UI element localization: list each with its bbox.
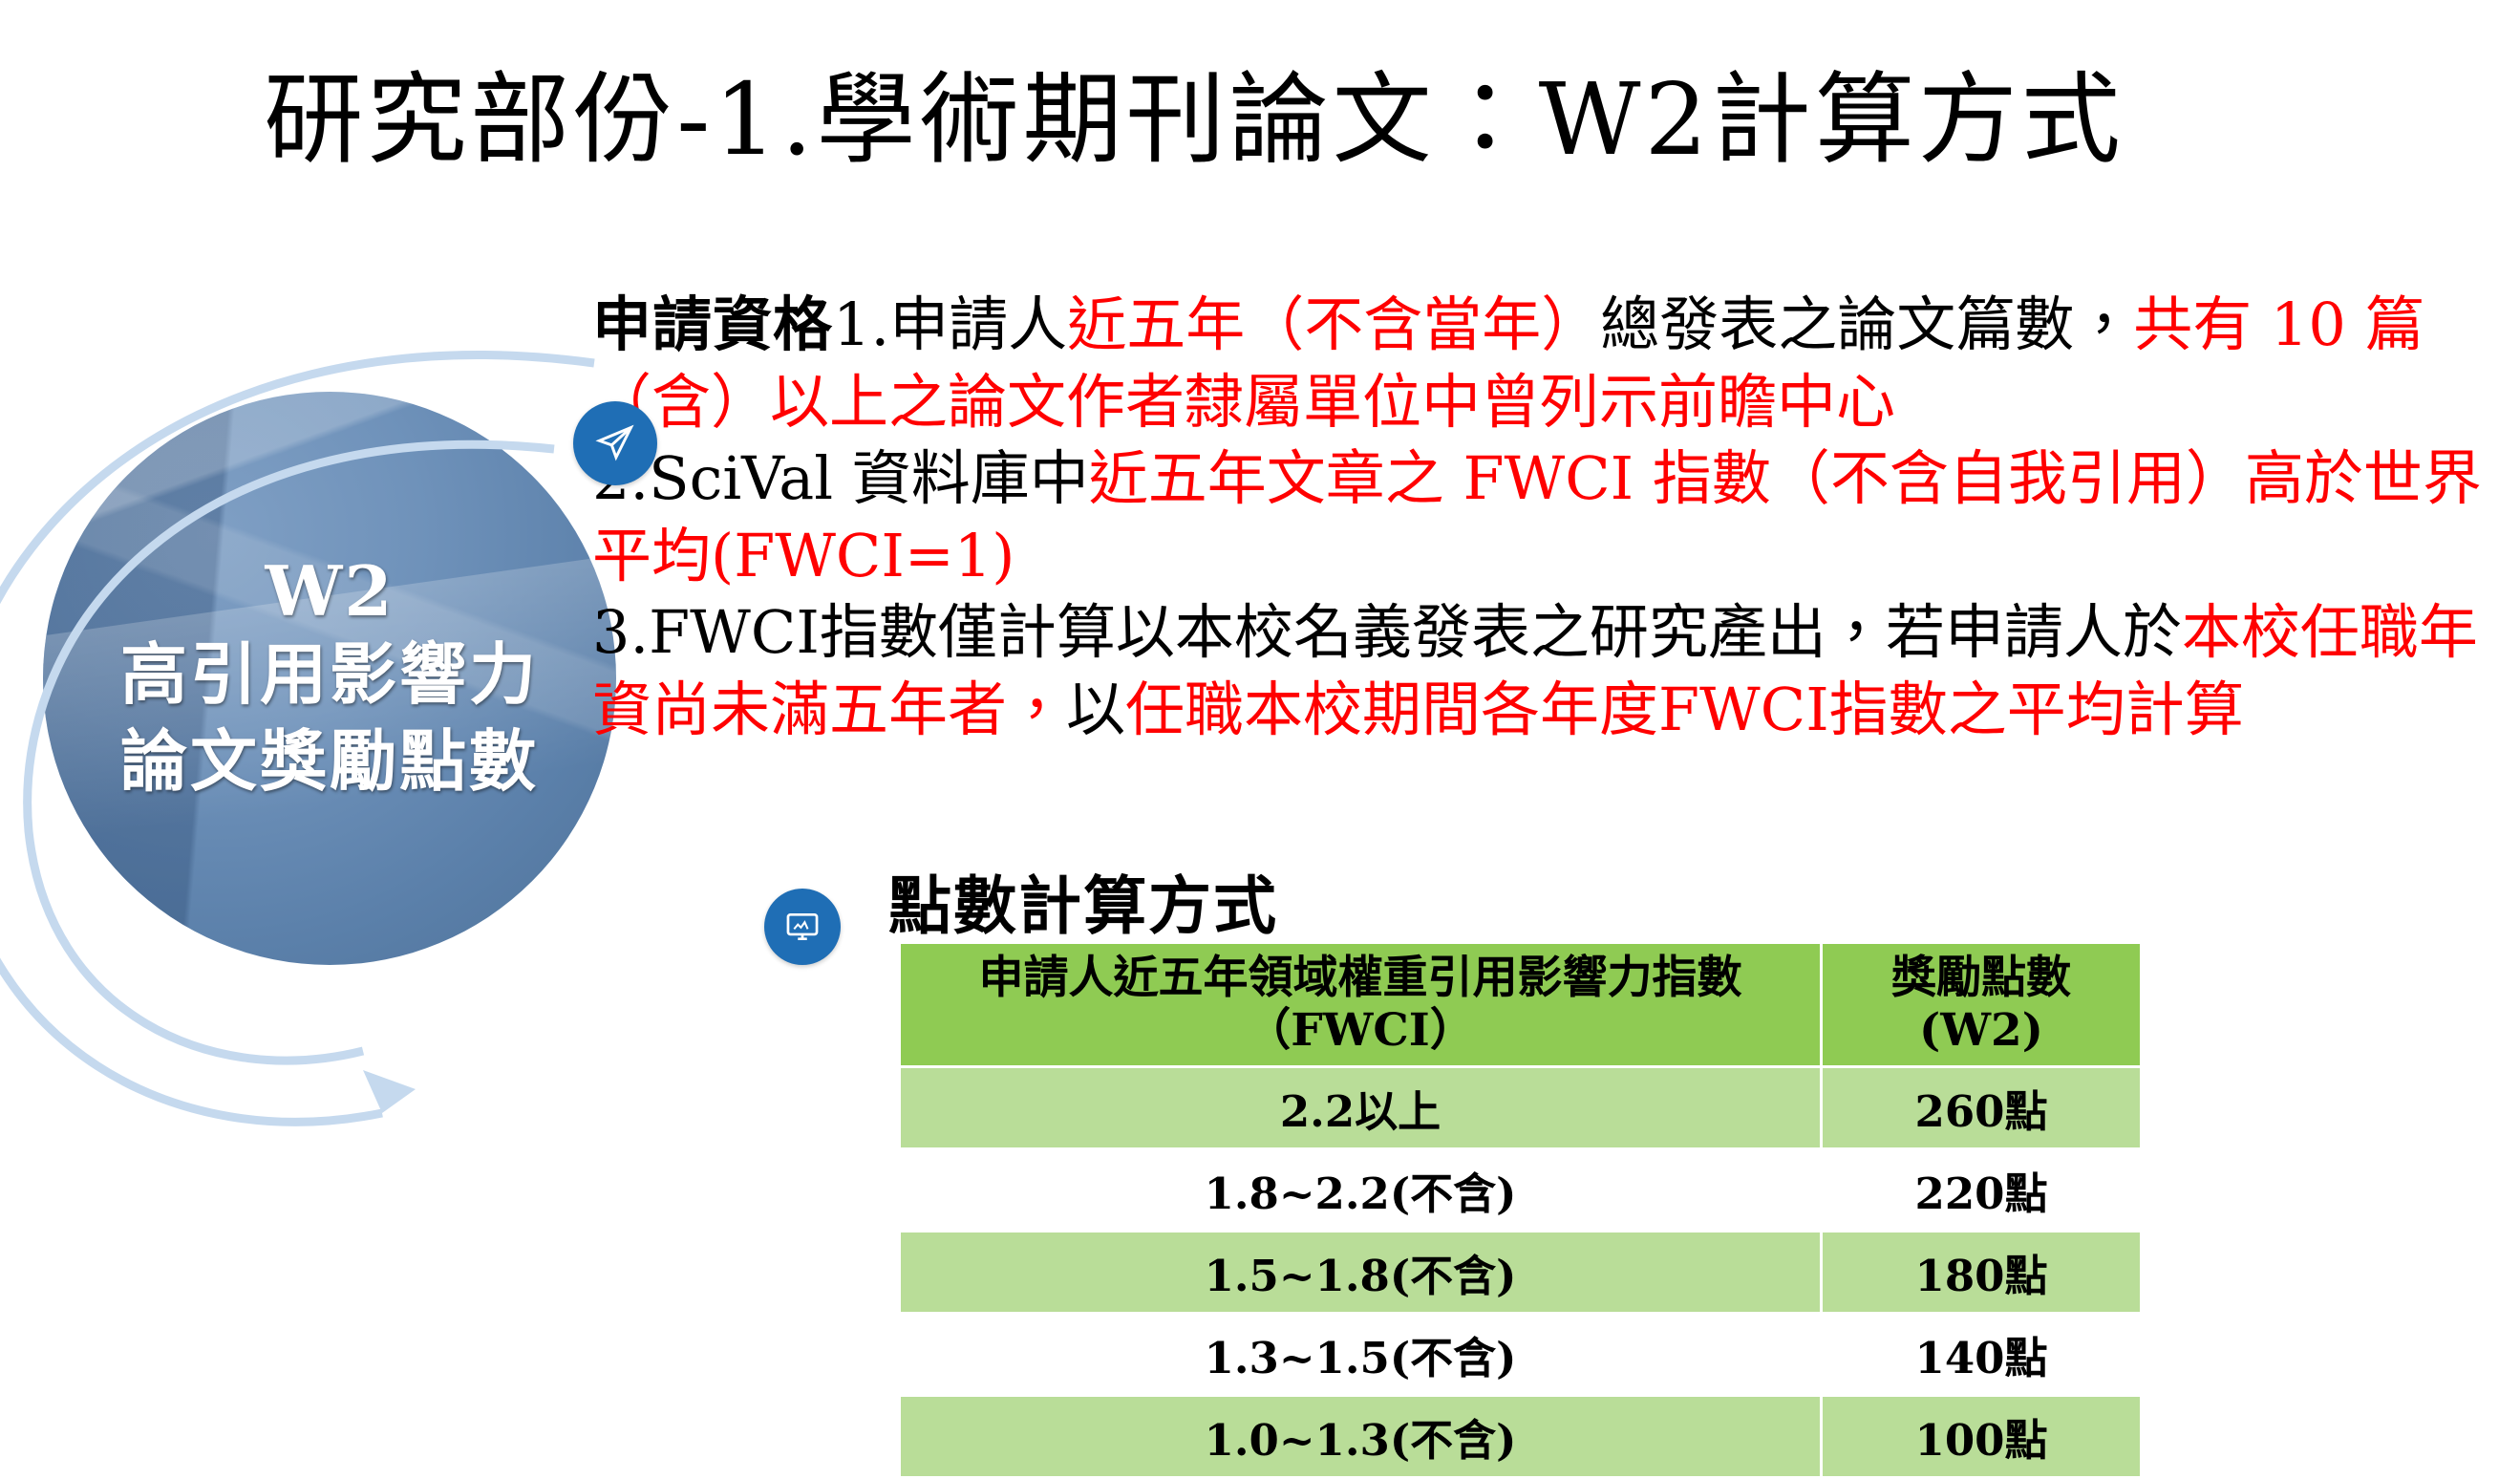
row-range: 2.2以上 — [900, 1066, 1822, 1148]
page-title: 研究部份-1.學術期刊論文：W2計算方式 — [0, 38, 2388, 182]
row-points: 140點 — [1822, 1313, 2142, 1395]
row-points: 260點 — [1822, 1066, 2142, 1148]
table-header-row: 申請人近五年領域權重引用影響力指數 （FWCI） 獎勵點數 (W2) — [900, 943, 2142, 1067]
table-row: 1.3~1.5(不含) 140點 — [900, 1313, 2142, 1395]
row-range: 1.5~1.8(不含) — [900, 1231, 1822, 1313]
qualification-block: 申請資格1.申請人近五年（不含當年）總發表之論文篇數，共有 10 篇（含）以上之… — [592, 287, 2493, 749]
points-table: 申請人近五年領域權重引用影響力指數 （FWCI） 獎勵點數 (W2) 2.2以上… — [898, 941, 2143, 1479]
row-points: 180點 — [1822, 1231, 2142, 1313]
table-header-points-line1: 獎勵點數 — [1826, 952, 2136, 1004]
table-row: 1.8~2.2(不含) 220點 — [900, 1148, 2142, 1231]
circle-line-1: W2 — [266, 552, 395, 632]
item1-seg3: 總發表之論文篇數， — [1600, 289, 2133, 359]
table-header-fwci-line1: 申請人近五年領域權重引用影響力指數 — [905, 952, 1816, 1004]
w2-circle-graphic: W2 高引用影響力 論文獎勵點數 — [0, 373, 602, 984]
paper-plane-badge — [573, 401, 657, 485]
circle-caption: W2 高引用影響力 論文獎勵點數 — [43, 392, 616, 965]
qualification-item-2: 2.SciVal 資料庫中近五年文章之 FWCI 指數（不含自我引用）高於世界平… — [592, 440, 2493, 594]
circle-line-2: 高引用影響力 — [120, 631, 539, 718]
table-row: 1.5~1.8(不含) 180點 — [900, 1231, 2142, 1313]
item1-seg2: 近五年（不含當年） — [1067, 289, 1600, 359]
item1-number: 1. — [833, 289, 889, 359]
qualification-item-3: 3.FWCI指數僅計算以本校名義發表之研究產出，若申請人於本校任職年資尚未滿五年… — [592, 594, 2493, 748]
row-points: 100點 — [1822, 1395, 2142, 1477]
item3-seg4: 任職本校期間各年度FWCI指數之平均計算 — [1125, 675, 2244, 744]
points-calculation-heading: 點數計算方式 — [888, 855, 1278, 947]
item3-seg3: 以 — [1066, 675, 1125, 744]
row-range: 1.3~1.5(不含) — [900, 1313, 1822, 1395]
row-range: 1.8~2.2(不含) — [900, 1148, 1822, 1231]
row-points: 220點 — [1822, 1148, 2142, 1231]
row-range: 1.0~1.3(不含) — [900, 1395, 1822, 1477]
monitor-icon — [784, 909, 821, 945]
table-row: 1.0~1.3(不含) 100點 — [900, 1395, 2142, 1477]
table-header-fwci: 申請人近五年領域權重引用影響力指數 （FWCI） — [900, 943, 1822, 1067]
item3-seg1: FWCI指數僅計算以本校名義發表之研究產出，若申請人於 — [649, 597, 2182, 667]
circle-line-3: 論文獎勵點數 — [120, 718, 539, 804]
table-header-fwci-line2: （FWCI） — [905, 1004, 1816, 1057]
table-body: 2.2以上 260點 1.8~2.2(不含) 220點 1.5~1.8(不含) … — [900, 1066, 2142, 1477]
paper-plane-icon — [594, 422, 636, 464]
table-row: 2.2以上 260點 — [900, 1066, 2142, 1148]
monitor-badge — [764, 889, 841, 965]
table-header-points-line2: (W2) — [1826, 1004, 2136, 1057]
table-header-points: 獎勵點數 (W2) — [1822, 943, 2142, 1067]
item1-seg1: 申請人 — [889, 289, 1067, 359]
qualification-item-1: 申請資格1.申請人近五年（不含當年）總發表之論文篇數，共有 10 篇（含）以上之… — [592, 287, 2493, 440]
